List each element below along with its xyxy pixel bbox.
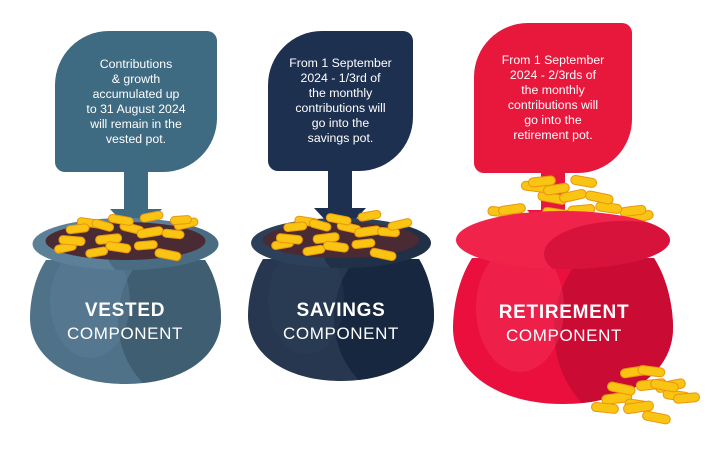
pot-icon-savings — [246, 216, 436, 386]
callout-vested: Contributions & growth accumulated up to… — [55, 31, 217, 201]
pot-icon-retirement — [450, 196, 680, 411]
callout-bubble-vested: Contributions & growth accumulated up to… — [55, 31, 217, 172]
callout-text-retirement: From 1 September 2024 - 2/3rds of the mo… — [502, 53, 605, 143]
callout-text-savings: From 1 September 2024 - 1/3rd of the mon… — [289, 56, 392, 146]
component-column-retirement: From 1 September 2024 - 2/3rds of the mo… — [448, 0, 720, 450]
callout-savings: From 1 September 2024 - 1/3rd of the mon… — [268, 31, 413, 201]
callout-bubble-retirement: From 1 September 2024 - 2/3rds of the mo… — [474, 23, 632, 173]
pot-icon-vested — [28, 216, 223, 388]
infographic-canvas: Contributions & growth accumulated up to… — [0, 0, 720, 450]
callout-text-vested: Contributions & growth accumulated up to… — [86, 57, 185, 147]
component-column-vested: Contributions & growth accumulated up to… — [0, 0, 250, 450]
component-column-savings: From 1 September 2024 - 1/3rd of the mon… — [243, 0, 473, 450]
callout-bubble-savings: From 1 September 2024 - 1/3rd of the mon… — [268, 31, 413, 171]
